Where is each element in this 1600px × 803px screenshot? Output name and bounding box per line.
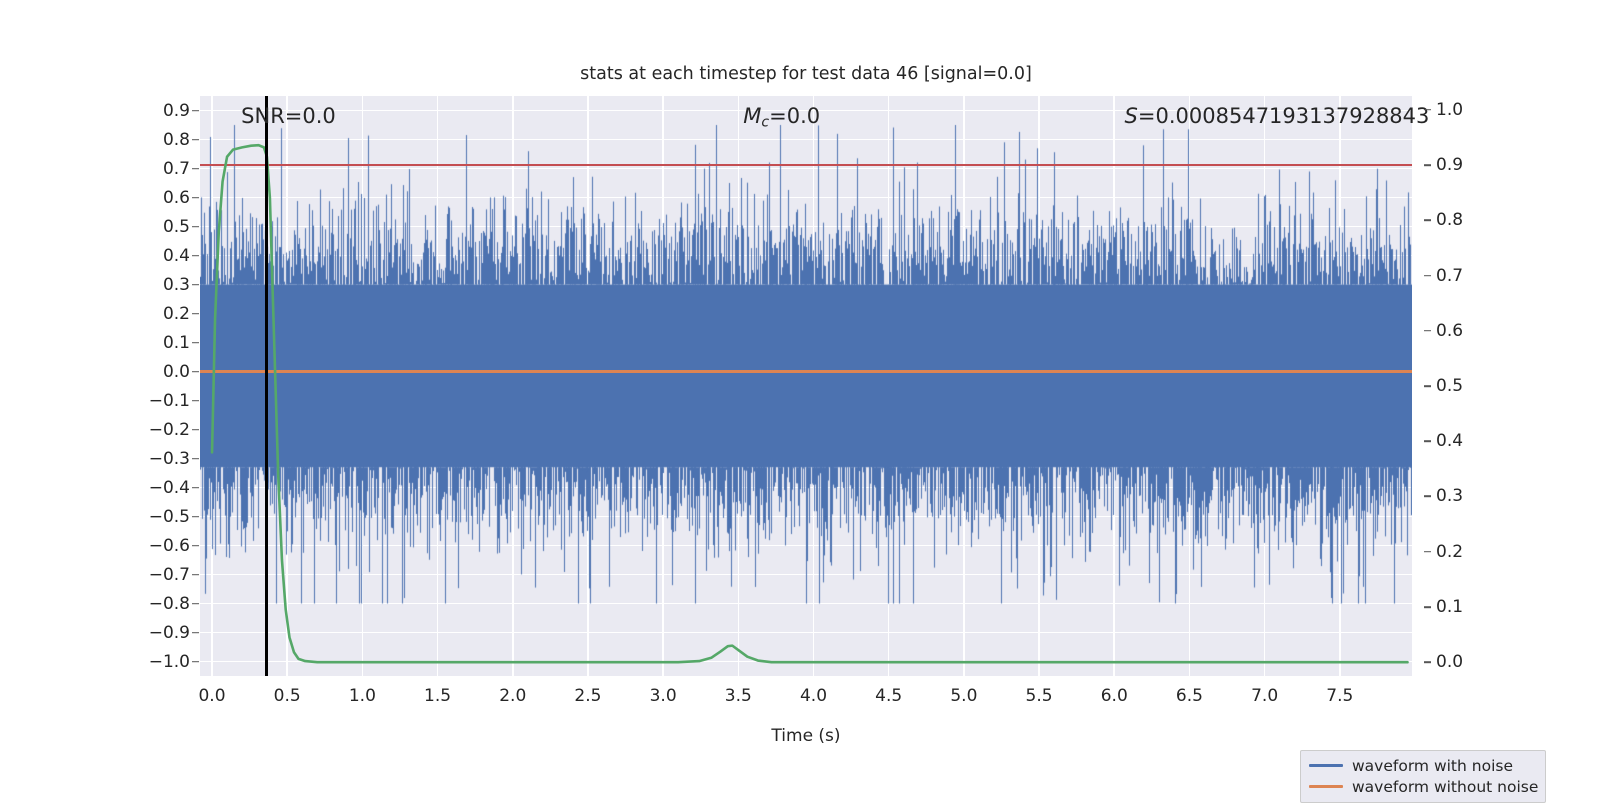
- annotation-chirp-mass-value: 0.0: [787, 104, 820, 128]
- y-axis-left-tick-mark: [192, 632, 199, 634]
- y-axis-left-tick-label: 0.1: [163, 333, 190, 353]
- y-axis-right-tick-mark: [1424, 496, 1431, 498]
- x-axis-tick-label: 7.5: [1326, 686, 1353, 706]
- y-axis-right-tick-label: 0.7: [1436, 266, 1463, 286]
- plot-area: SNR=0.0 Mc=0.0 S=0.0008547193137928843 w…: [200, 96, 1412, 676]
- y-axis-left-tick-mark: [192, 197, 199, 199]
- y-axis-right-tick-label: 0.1: [1436, 597, 1463, 617]
- y-axis-left-tick-mark: [192, 487, 199, 489]
- y-axis-right-tick-mark: [1424, 219, 1431, 221]
- y-axis-right-tick-mark: [1424, 440, 1431, 442]
- chart-title: stats at each timestep for test data 46 …: [200, 64, 1412, 84]
- y-axis-left-tick-mark: [192, 226, 199, 228]
- x-axis-tick-label: 0.5: [274, 686, 301, 706]
- y-axis-left-tick-mark: [192, 255, 199, 257]
- y-axis-left-tick-label: 0.6: [163, 188, 190, 208]
- x-axis-tick-label: 6.5: [1176, 686, 1203, 706]
- annotation-score-label: =: [1138, 104, 1156, 128]
- y-axis-left-tick-mark: [192, 429, 199, 431]
- annotation-score-symbol: S: [1125, 104, 1138, 128]
- y-axis-left-tick-label: 0.4: [163, 246, 190, 266]
- y-axis-left-tick-label: 0.9: [163, 101, 190, 121]
- y-axis-left-tick-mark: [192, 168, 199, 170]
- detection-probability-path: [212, 145, 1407, 662]
- annotation-snr-label: SNR=: [241, 104, 302, 128]
- y-axis-left-tick-label: −0.1: [149, 391, 190, 411]
- x-axis-tick-label: 4.0: [800, 686, 827, 706]
- y-axis-left-tick-mark: [192, 574, 199, 576]
- y-axis-left-tick-mark: [192, 400, 199, 402]
- y-axis-left-tick-label: 0.7: [163, 159, 190, 179]
- y-axis-left-tick-mark: [192, 545, 199, 547]
- detection-probability-curve: [200, 96, 1412, 676]
- y-axis-left-tick-label: 0.3: [163, 275, 190, 295]
- annotation-chirp-mass-label: =: [769, 104, 787, 128]
- y-axis-right-tick-label: 0.0: [1436, 652, 1463, 672]
- y-axis-left-tick-mark: [192, 139, 199, 141]
- y-axis-left-tick-mark: [192, 371, 199, 373]
- legend-swatch-waveform-with-noise: [1309, 764, 1343, 767]
- y-axis-right-tick-label: 1.0: [1436, 100, 1463, 120]
- annotation-snr-value: 0.0: [302, 104, 335, 128]
- y-axis-left-tick-label: −0.5: [149, 507, 190, 527]
- y-axis-left-tick-label: 0.2: [163, 304, 190, 324]
- y-axis-left-tick-label: 0.8: [163, 130, 190, 150]
- annotation-chirp-mass-subscript: c: [761, 115, 769, 131]
- y-axis-right-tick-label: 0.8: [1436, 210, 1463, 230]
- y-axis-right-tick-mark: [1424, 109, 1431, 111]
- y-axis-left-tick-label: −0.6: [149, 536, 190, 556]
- legend-item: waveform without noise: [1309, 776, 1537, 797]
- y-axis-right-tick-mark: [1424, 164, 1431, 166]
- y-axis-right-tick-label: 0.3: [1436, 486, 1463, 506]
- y-axis-right-tick-mark: [1424, 606, 1431, 608]
- x-axis-tick-label: 4.5: [875, 686, 902, 706]
- annotation-chirp-mass-symbol: M: [743, 104, 761, 128]
- y-axis-right-tick-label: 0.2: [1436, 542, 1463, 562]
- annotation-score: S=0.0008547193137928843: [1125, 104, 1430, 128]
- y-axis-left-tick-label: −0.7: [149, 565, 190, 585]
- merger-time-marker: [265, 96, 268, 676]
- legend-label-waveform-with-noise: waveform with noise: [1352, 757, 1513, 775]
- y-axis-left-tick-label: −0.8: [149, 594, 190, 614]
- annotation-snr: SNR=0.0: [241, 104, 336, 128]
- x-axis-tick-label: 3.0: [650, 686, 677, 706]
- x-axis-tick-label: 2.0: [499, 686, 526, 706]
- x-axis-tick-label: 3.5: [725, 686, 752, 706]
- y-axis-left-tick-label: −0.9: [149, 623, 190, 643]
- y-axis-right-tick-label: 0.9: [1436, 155, 1463, 175]
- y-axis-left-tick-label: −0.4: [149, 478, 190, 498]
- y-axis-right-tick-label: 0.6: [1436, 321, 1463, 341]
- y-axis-left-tick-label: 0.0: [163, 362, 190, 382]
- legend-item: waveform with noise: [1309, 755, 1537, 776]
- y-axis-left-tick-mark: [192, 342, 199, 344]
- legend: waveform with noise waveform without noi…: [1300, 750, 1546, 803]
- x-axis-tick-label: 0.0: [198, 686, 225, 706]
- y-axis-left-tick-label: −0.2: [149, 420, 190, 440]
- x-axis-tick-label: 2.5: [574, 686, 601, 706]
- y-axis-right-tick-mark: [1424, 275, 1431, 277]
- x-axis-label: Time (s): [200, 726, 1412, 746]
- x-axis-tick-label: 5.5: [1026, 686, 1053, 706]
- y-axis-left-tick-mark: [192, 661, 199, 663]
- y-axis-left-tick-mark: [192, 284, 199, 286]
- y-axis-left-tick-label: −0.3: [149, 449, 190, 469]
- annotation-score-value: 0.0008547193137928843: [1156, 104, 1430, 128]
- legend-label-waveform-without-noise: waveform without noise: [1352, 778, 1538, 796]
- y-axis-left-tick-mark: [192, 110, 199, 112]
- y-axis-left-tick-label: 0.5: [163, 217, 190, 237]
- x-axis-tick-label: 5.0: [950, 686, 977, 706]
- x-axis-tick-label: 1.0: [349, 686, 376, 706]
- x-axis-tick-label: 6.0: [1101, 686, 1128, 706]
- x-axis-tick-label: 1.5: [424, 686, 451, 706]
- legend-swatch-waveform-without-noise: [1309, 785, 1343, 788]
- y-axis-left-tick-mark: [192, 313, 199, 315]
- y-axis-left-tick-label: −1.0: [149, 652, 190, 672]
- y-axis-right-tick-mark: [1424, 330, 1431, 332]
- y-axis-left-tick-mark: [192, 603, 199, 605]
- figure: stats at each timestep for test data 46 …: [0, 0, 1600, 800]
- y-axis-right-tick-mark: [1424, 385, 1431, 387]
- y-axis-right-tick-label: 0.5: [1436, 376, 1463, 396]
- y-axis-left-tick-mark: [192, 458, 199, 460]
- y-axis-right-tick-label: 0.4: [1436, 431, 1463, 451]
- y-axis-right-tick-mark: [1424, 551, 1431, 553]
- x-axis-tick-label: 7.0: [1251, 686, 1278, 706]
- y-axis-left-tick-mark: [192, 516, 199, 518]
- y-axis-right-tick-mark: [1424, 661, 1431, 663]
- annotation-chirp-mass: Mc=0.0: [743, 104, 820, 131]
